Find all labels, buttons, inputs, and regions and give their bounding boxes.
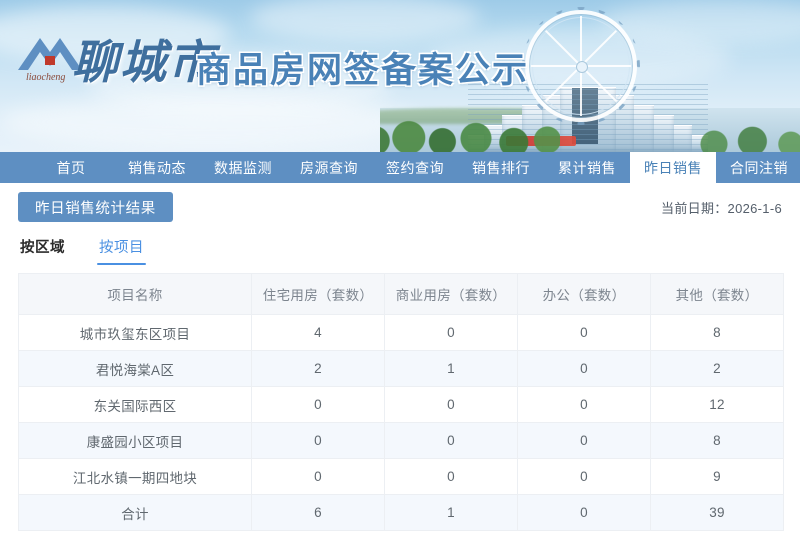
yesterday-sales-table: 项目名称住宅用房（套数）商业用房（套数）办公（套数）其他（套数） 城市玖玺东区项…	[18, 273, 784, 531]
table-total-cell-name: 合计	[19, 495, 252, 531]
table-total-cell-other: 39	[651, 495, 784, 531]
trees-decor	[380, 112, 560, 152]
nav-item-home[interactable]: 首页	[28, 152, 114, 183]
table-cell-name: 城市玖玺东区项目	[19, 315, 252, 351]
site-banner: liaocheng 聊城市 商品房网签备案公示	[0, 0, 800, 152]
nav-item-contract-query[interactable]: 签约查询	[372, 152, 458, 183]
page-root: liaocheng 聊城市 商品房网签备案公示 首页销售动态数据监测房源查询签约…	[0, 0, 800, 537]
ferris-wheel-icon	[525, 10, 637, 122]
table-row: 君悦海棠A区2102	[19, 351, 784, 387]
table-row: 江北水镇一期四地块0009	[19, 459, 784, 495]
cloud-decor	[0, 96, 420, 148]
current-date-label: 当前日期：2026-1-6	[661, 198, 782, 217]
table-row: 康盛园小区项目0008	[19, 423, 784, 459]
table-cell-commercial: 0	[385, 315, 518, 351]
table-cell-other: 12	[651, 387, 784, 423]
table-row: 东关国际西区00012	[19, 387, 784, 423]
toolbar: 昨日销售统计结果 当前日期：2026-1-6	[18, 183, 782, 231]
banner-brand-script: 聊城市	[72, 26, 216, 92]
table-cell-residential: 0	[252, 459, 385, 495]
table-total-cell-commercial: 1	[385, 495, 518, 531]
nav-item-sales-trends[interactable]: 销售动态	[114, 152, 200, 183]
table-cell-residential: 0	[252, 387, 385, 423]
table-head: 项目名称住宅用房（套数）商业用房（套数）办公（套数）其他（套数）	[19, 274, 784, 315]
table-cell-commercial: 1	[385, 351, 518, 387]
table-cell-name: 东关国际西区	[19, 387, 252, 423]
table-cell-residential: 4	[252, 315, 385, 351]
table-column-header: 商业用房（套数）	[385, 274, 518, 315]
subtab-by-project[interactable]: 按项目	[99, 236, 144, 265]
table-column-header: 住宅用房（套数）	[252, 274, 385, 315]
content-area: 昨日销售统计结果 当前日期：2026-1-6 按区域按项目 项目名称住宅用房（套…	[0, 183, 800, 531]
table-total-row: 合计61039	[19, 495, 784, 531]
table-row: 城市玖玺东区项目4008	[19, 315, 784, 351]
main-navigation: 首页销售动态数据监测房源查询签约查询销售排行累计销售昨日销售合同注销	[0, 152, 800, 183]
subtab-by-district[interactable]: 按区域	[20, 236, 65, 265]
table-cell-residential: 2	[252, 351, 385, 387]
table-cell-name: 康盛园小区项目	[19, 423, 252, 459]
table-cell-commercial: 0	[385, 459, 518, 495]
table-cell-office: 0	[518, 351, 651, 387]
nav-item-yesterday-sales[interactable]: 昨日销售	[630, 152, 716, 183]
table-cell-commercial: 0	[385, 423, 518, 459]
table-column-header: 办公（套数）	[518, 274, 651, 315]
table-header-row: 项目名称住宅用房（套数）商业用房（套数）办公（套数）其他（套数）	[19, 274, 784, 315]
nav-item-contract-cancel[interactable]: 合同注销	[716, 152, 800, 183]
table-body: 城市玖玺东区项目4008君悦海棠A区2102东关国际西区00012康盛园小区项目…	[19, 315, 784, 531]
logo-caption: liaocheng	[26, 72, 65, 83]
nav-item-listing-query[interactable]: 房源查询	[286, 152, 372, 183]
table-total-cell-residential: 6	[252, 495, 385, 531]
table-cell-office: 0	[518, 387, 651, 423]
statistics-table-wrapper: 项目名称住宅用房（套数）商业用房（套数）办公（套数）其他（套数） 城市玖玺东区项…	[18, 273, 784, 531]
nav-item-cumulative-sales[interactable]: 累计销售	[544, 152, 630, 183]
view-mode-tabs: 按区域按项目	[18, 231, 782, 265]
banner-title: 商品房网签备案公示	[196, 42, 529, 93]
table-cell-office: 0	[518, 315, 651, 351]
yesterday-sales-result-button[interactable]: 昨日销售统计结果	[18, 192, 173, 222]
nav-item-sales-ranking[interactable]: 销售排行	[458, 152, 544, 183]
table-cell-other: 2	[651, 351, 784, 387]
nav-item-data-monitor[interactable]: 数据监测	[200, 152, 286, 183]
table-column-header: 项目名称	[19, 274, 252, 315]
table-cell-office: 0	[518, 423, 651, 459]
table-cell-other: 8	[651, 423, 784, 459]
table-cell-name: 君悦海棠A区	[19, 351, 252, 387]
table-cell-other: 8	[651, 315, 784, 351]
trees-decor	[690, 116, 800, 152]
table-total-cell-office: 0	[518, 495, 651, 531]
table-cell-name: 江北水镇一期四地块	[19, 459, 252, 495]
table-cell-office: 0	[518, 459, 651, 495]
table-cell-residential: 0	[252, 423, 385, 459]
table-cell-other: 9	[651, 459, 784, 495]
table-column-header: 其他（套数）	[651, 274, 784, 315]
table-cell-commercial: 0	[385, 387, 518, 423]
